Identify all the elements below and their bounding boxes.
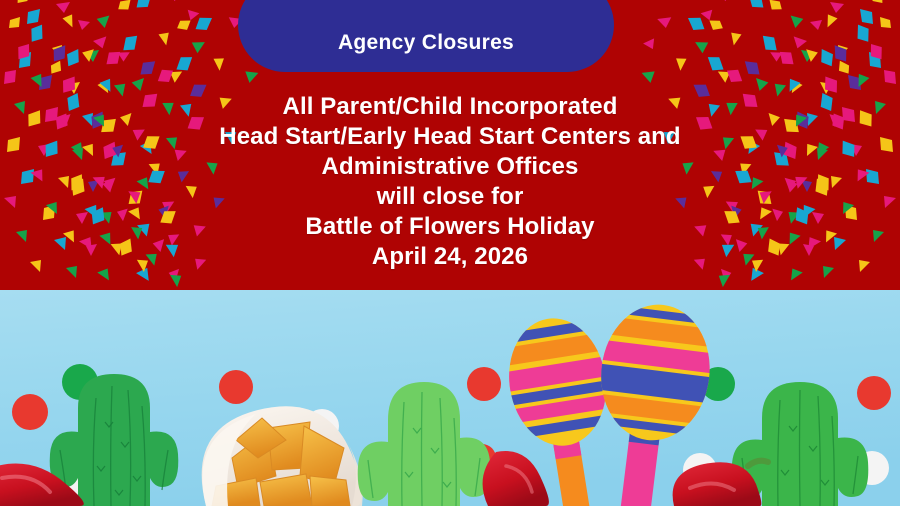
headline-line-3: Administrative Offices [0, 152, 900, 182]
fiesta-photo [0, 290, 900, 506]
agency-closure-poster: Agency Closures All Parent/Child Incorpo… [0, 0, 900, 506]
headline-line-5: Battle of Flowers Holiday [0, 212, 900, 242]
headline-line-4: will close for [0, 182, 900, 212]
pill-label: Agency Closures [338, 31, 514, 55]
headline-line-1: All Parent/Child Incorporated [0, 92, 900, 122]
headline-line-2: Head Start/Early Head Start Centers and [0, 122, 900, 152]
red-banner: Agency Closures All Parent/Child Incorpo… [0, 0, 900, 290]
headline-block: All Parent/Child Incorporated Head Start… [0, 92, 900, 272]
agency-closures-pill: Agency Closures [238, 0, 614, 72]
headline-line-6: April 24, 2026 [0, 242, 900, 272]
